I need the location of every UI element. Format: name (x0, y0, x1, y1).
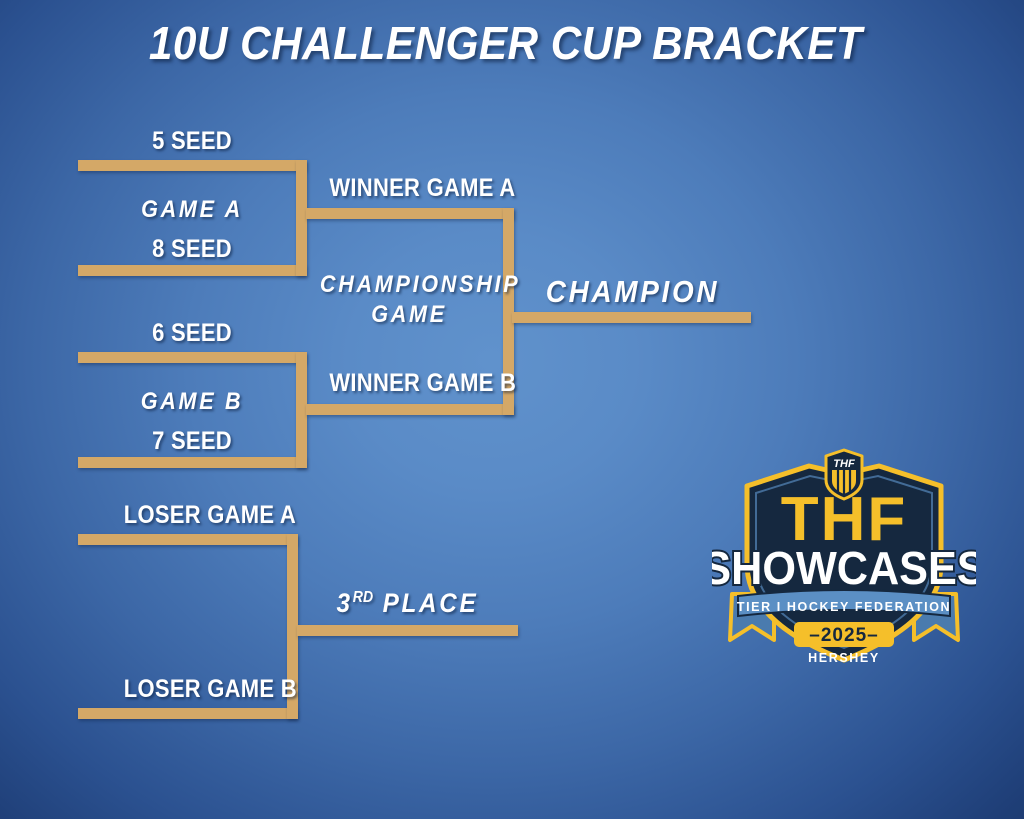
label-game-b: GAME B (100, 389, 284, 415)
winner-game-b: WINNER GAME B (329, 370, 496, 397)
logo-ribbon-text: TIER I HOCKEY FEDERATION (737, 600, 951, 614)
game-a-bottom-line (78, 265, 306, 276)
label-third-place: 3RD PLACE (311, 589, 505, 618)
team-6-seed: 6 SEED (102, 320, 282, 347)
third-place-ordinal: RD (353, 589, 373, 606)
winner-game-a: WINNER GAME A (329, 175, 496, 202)
bracket-poster: 10U CHALLENGER CUP BRACKET 5 SEED GAME A… (0, 0, 1024, 819)
loser-game-b: LOSER GAME B (124, 676, 297, 703)
thf-showcases-logo: THF THF SHOWCASES TIER I HOCKEY FEDERATI… (712, 444, 976, 674)
game-a-top-line (78, 160, 306, 171)
championship-bottom-line (306, 404, 514, 415)
championship-top-line (306, 208, 514, 219)
label-game-a: GAME A (100, 197, 284, 223)
logo-wordmark: SHOWCASES (712, 544, 976, 594)
third-place-number: 3 (337, 588, 353, 618)
consolation-top-line (78, 534, 297, 545)
page-title: 10U CHALLENGER CUP BRACKET (41, 16, 983, 70)
third-place-word: PLACE (373, 588, 478, 618)
label-championship-game-line2: GAME (320, 302, 498, 328)
logo-city: HERSHEY (808, 651, 880, 665)
game-b-top-line (78, 352, 306, 363)
team-5-seed: 5 SEED (102, 128, 282, 155)
team-7-seed: 7 SEED (102, 428, 282, 455)
team-8-seed: 8 SEED (102, 236, 282, 263)
champion-line (512, 312, 751, 323)
loser-game-a: LOSER GAME A (124, 502, 296, 529)
logo-year: –2025– (809, 625, 878, 646)
consolation-bottom-line (78, 708, 297, 719)
third-place-line (297, 625, 518, 636)
game-b-bottom-line (78, 457, 306, 468)
label-champion: CHAMPION (536, 275, 730, 308)
label-championship-game-line1: CHAMPIONSHIP (320, 272, 498, 298)
logo-crest-text: THF (833, 458, 855, 470)
